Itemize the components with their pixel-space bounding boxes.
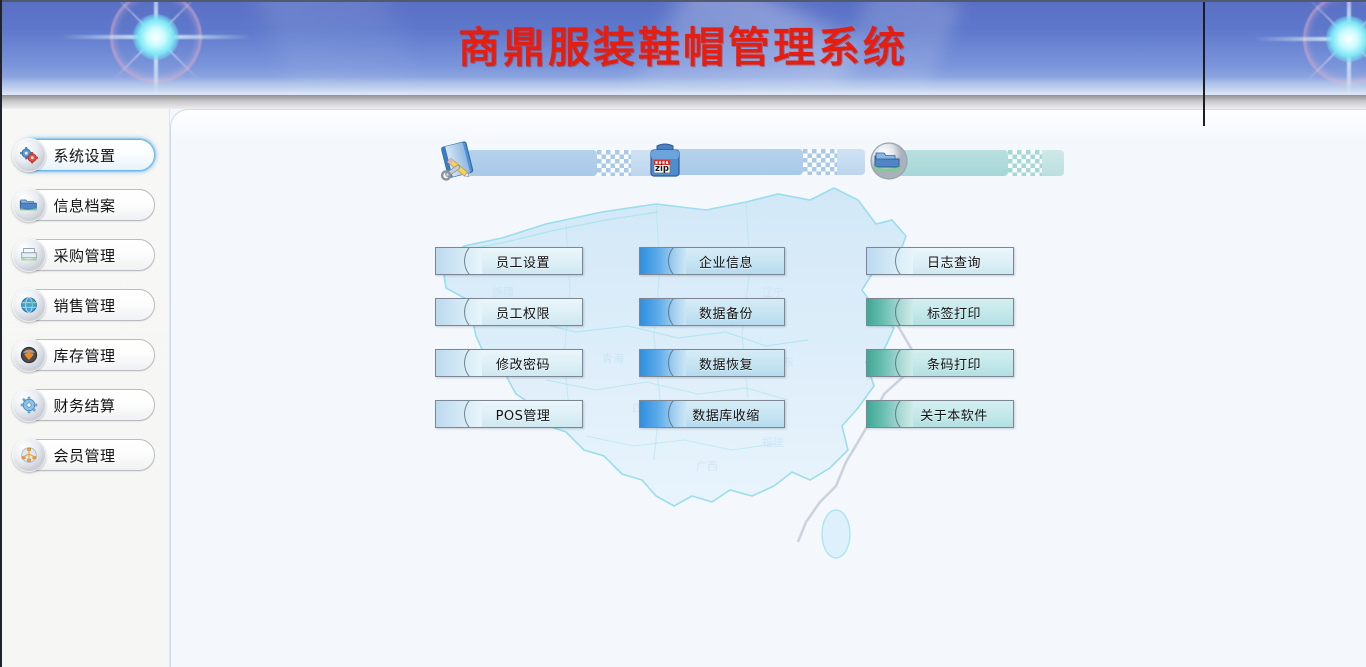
app-header: 商鼎服装鞋帽管理系统: [0, 0, 1366, 95]
sidebar-item-label: 会员管理: [54, 445, 116, 466]
svg-text:新疆: 新疆: [492, 285, 514, 299]
page-title: 商鼎服装鞋帽管理系统: [0, 0, 1366, 95]
sidebar-item-label: 信息档案: [54, 195, 116, 216]
button-label: 修改密码: [436, 350, 582, 376]
button-label: POS管理: [436, 401, 582, 427]
button-label: 数据库收缩: [640, 401, 784, 427]
sidebar-item-label: 财务结算: [54, 395, 116, 416]
sidebar-item-1[interactable]: 系统设置: [17, 139, 155, 171]
button-label: 日志查询: [867, 248, 1013, 274]
notebook-pencil-wrench-icon: [435, 138, 481, 188]
module-button-c2-r1[interactable]: 企业信息: [639, 247, 785, 275]
banner-checker-pattern: [597, 150, 631, 176]
button-label: 条码打印: [867, 350, 1013, 376]
zip-archive-icon: zip: [643, 138, 687, 186]
globe-icon: [12, 288, 46, 322]
sidebar-item-3[interactable]: 采购管理: [17, 239, 155, 271]
download-icon: [12, 338, 46, 372]
button-label: 关于本软件: [867, 401, 1013, 427]
module-button-c3-r2[interactable]: 标签打印: [866, 298, 1014, 326]
sidebar-item-7[interactable]: 会员管理: [17, 439, 155, 471]
banner-tail: [1042, 150, 1064, 176]
button-label: 标签打印: [867, 299, 1013, 325]
column-banner: [467, 150, 597, 176]
module-column-header-1: [435, 138, 659, 188]
header-vertical-divider: [1203, 0, 1205, 126]
module-button-c3-r3[interactable]: 条码打印: [866, 349, 1014, 377]
folder-icon: [12, 188, 46, 222]
button-label: 员工权限: [436, 299, 582, 325]
sidebar-item-label: 采购管理: [54, 245, 116, 266]
network-icon: [12, 438, 46, 472]
svg-text:青海: 青海: [602, 351, 624, 365]
button-label: 员工设置: [436, 248, 582, 274]
application-window: 商鼎服装鞋帽管理系统 系统设置信息档案采购管理销售管理库存管理财务结算会员管理: [0, 0, 1366, 667]
sidebar-item-2[interactable]: 信息档案: [17, 189, 155, 221]
svg-text:zip: zip: [655, 164, 669, 174]
banner-tail: [837, 149, 865, 175]
module-button-c1-r4[interactable]: POS管理: [435, 400, 583, 428]
button-label: 企业信息: [640, 248, 784, 274]
sidebar-item-6[interactable]: 财务结算: [17, 389, 155, 421]
svg-text:福建: 福建: [762, 435, 784, 449]
module-button-c1-r3[interactable]: 修改密码: [435, 349, 583, 377]
svg-text:辽宁: 辽宁: [762, 285, 784, 299]
gear-icon: [12, 388, 46, 422]
module-button-c3-r1[interactable]: 日志查询: [866, 247, 1014, 275]
module-column-header-2: zip: [639, 138, 865, 186]
sidebar-item-label: 销售管理: [54, 295, 116, 316]
window-top-border: [0, 0, 1366, 2]
module-button-c2-r3[interactable]: 数据恢复: [639, 349, 785, 377]
module-button-c1-r2[interactable]: 员工权限: [435, 298, 583, 326]
button-label: 数据备份: [640, 299, 784, 325]
sidebar-item-label: 库存管理: [54, 345, 116, 366]
content-panel: 新疆青海 内蒙吉林 四川湖北 山东辽宁 广西福建: [170, 109, 1366, 667]
module-button-c1-r1[interactable]: 员工设置: [435, 247, 583, 275]
module-column-header-3: [866, 138, 1064, 188]
gears-icon: [12, 138, 46, 172]
sidebar-item-5[interactable]: 库存管理: [17, 339, 155, 371]
button-label: 数据恢复: [640, 350, 784, 376]
banner-checker-pattern: [1008, 150, 1042, 176]
folder-disk-icon: [866, 138, 912, 188]
module-button-c2-r4[interactable]: 数据库收缩: [639, 400, 785, 428]
header-underbar: [0, 95, 1366, 109]
inbox-icon: [12, 238, 46, 272]
sidebar: 系统设置信息档案采购管理销售管理库存管理财务结算会员管理: [2, 109, 170, 667]
sidebar-item-label: 系统设置: [54, 145, 116, 166]
sidebar-item-4[interactable]: 销售管理: [17, 289, 155, 321]
column-banner: [673, 149, 803, 175]
module-button-c3-r4[interactable]: 关于本软件: [866, 400, 1014, 428]
window-left-border: [0, 0, 2, 667]
svg-text:广西: 广西: [696, 460, 718, 473]
banner-checker-pattern: [803, 149, 837, 175]
column-banner: [898, 150, 1008, 176]
module-button-c2-r2[interactable]: 数据备份: [639, 298, 785, 326]
